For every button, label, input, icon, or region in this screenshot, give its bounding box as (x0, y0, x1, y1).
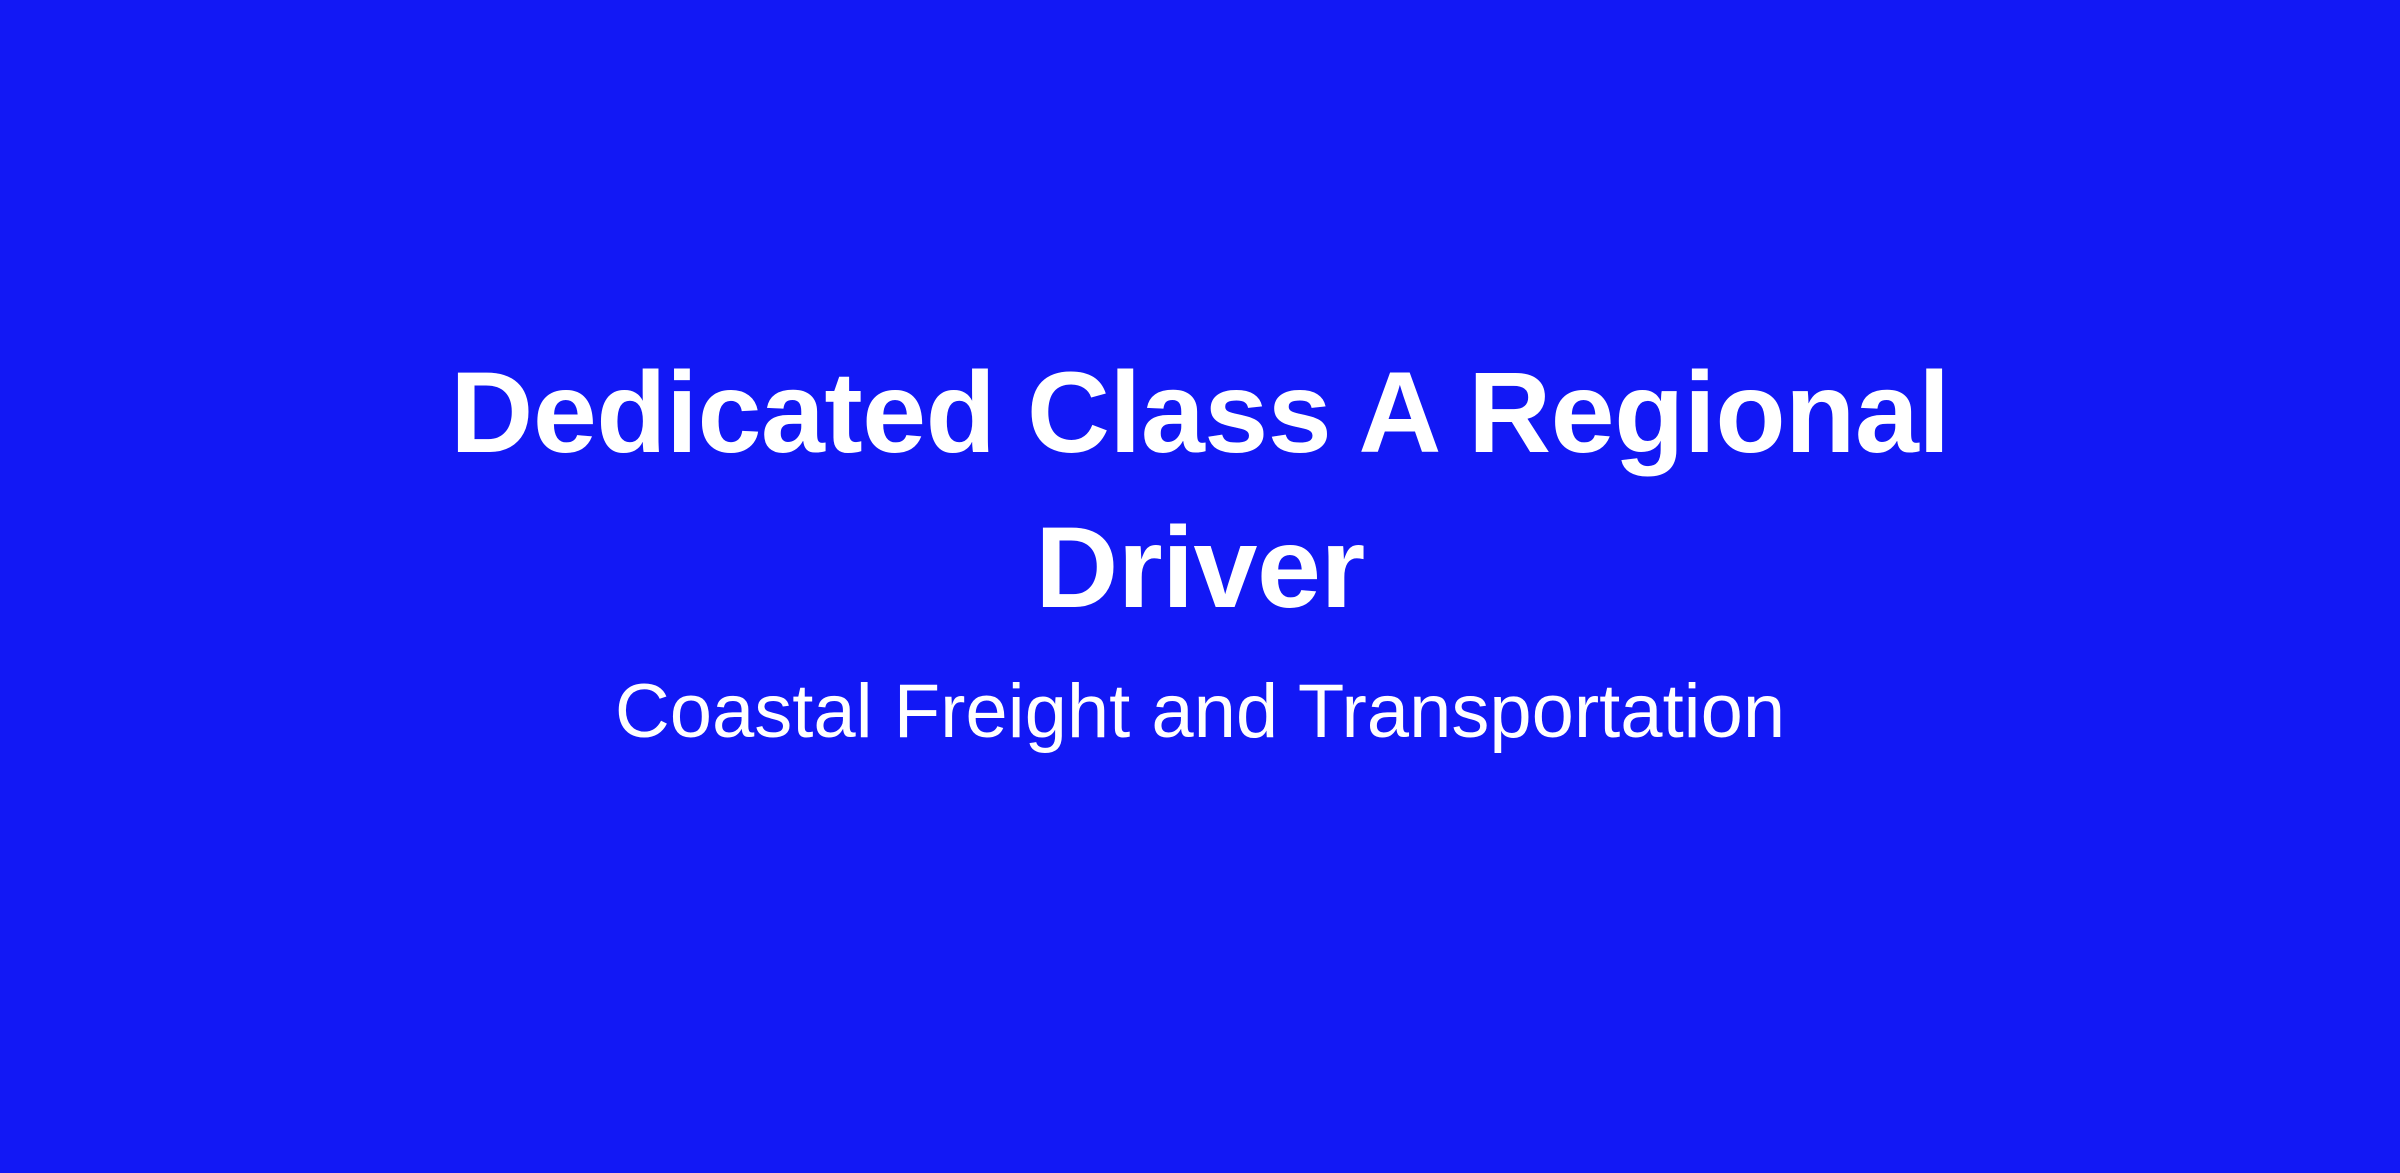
hero-banner: Dedicated Class A Regional Driver Coasta… (0, 0, 2400, 1173)
hero-content: Dedicated Class A Regional Driver Coasta… (370, 336, 2030, 764)
job-title: Dedicated Class A Regional Driver (390, 336, 2010, 646)
company-name: Coastal Freight and Transportation (615, 646, 1785, 764)
